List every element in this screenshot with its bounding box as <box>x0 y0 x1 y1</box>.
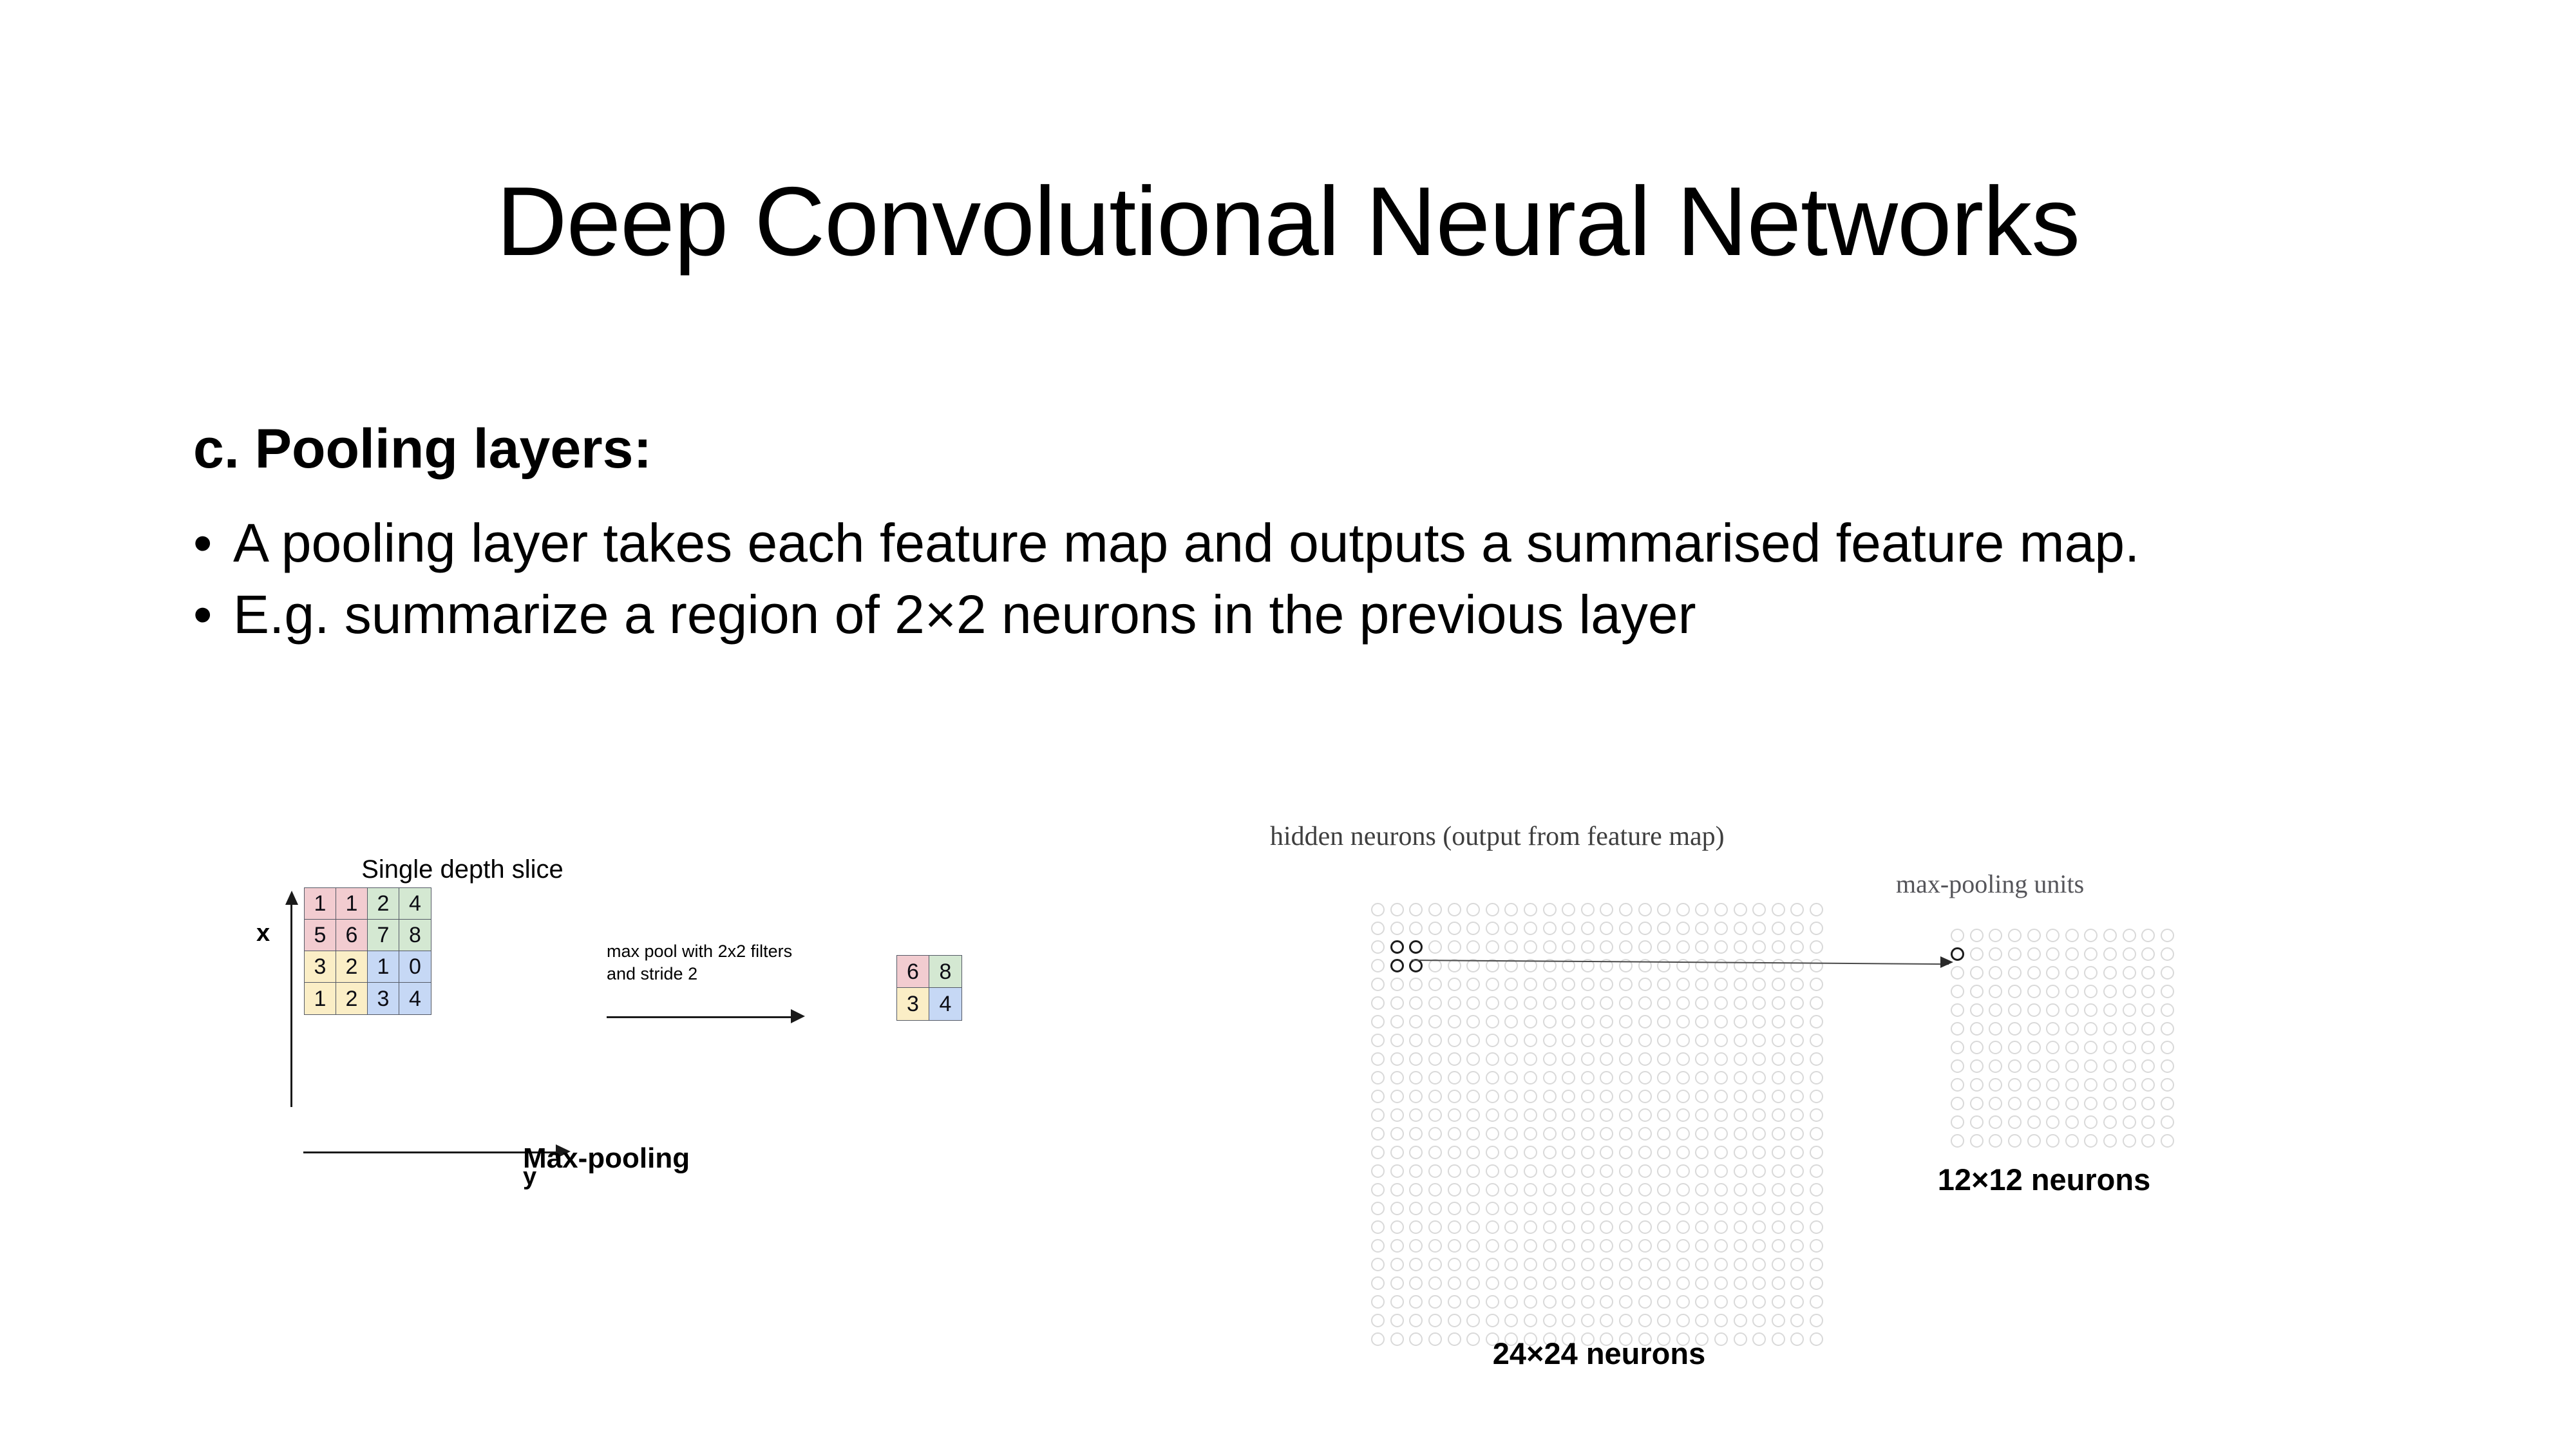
neuron <box>1810 1034 1823 1047</box>
neuron <box>1790 959 1804 972</box>
input-cell: 8 <box>399 920 431 951</box>
neuron <box>1951 966 1964 980</box>
neuron <box>1989 966 2002 980</box>
neuron <box>1638 1295 1652 1309</box>
neuron <box>1657 1239 1671 1253</box>
neuron <box>1409 1090 1423 1103</box>
neuron <box>1752 1239 1766 1253</box>
neuron <box>1951 1115 1964 1129</box>
neuron <box>1581 1052 1595 1066</box>
neuron <box>1524 1034 1537 1047</box>
neuron <box>1970 985 1984 998</box>
neuron <box>1657 1052 1671 1066</box>
y-axis-line <box>303 1151 558 1153</box>
neuron <box>1695 903 1709 916</box>
neuron <box>2161 929 2174 942</box>
neuron <box>1524 1239 1537 1253</box>
neuron <box>1581 1071 1595 1084</box>
neuron <box>1581 1034 1595 1047</box>
neuron <box>1448 1220 1461 1234</box>
neuron <box>1409 922 1423 935</box>
neuron <box>1810 1090 1823 1103</box>
neuron <box>1676 996 1690 1010</box>
neuron <box>1600 1295 1613 1309</box>
neuron <box>1970 966 1984 980</box>
neuron <box>1428 1276 1442 1290</box>
neuron <box>1543 1202 1557 1215</box>
neuron <box>1486 1220 1499 1234</box>
input-cell: 1 <box>368 951 399 983</box>
neuron <box>1390 1108 1404 1122</box>
neuron <box>1714 1202 1728 1215</box>
neuron <box>2008 966 2022 980</box>
neuron <box>1562 1258 1575 1271</box>
neuron <box>1581 903 1595 916</box>
neuron <box>1989 1078 2002 1092</box>
input-feature-map-grid: 1124567832101234 <box>304 887 431 1015</box>
neuron <box>1524 1164 1537 1178</box>
neuron <box>2103 985 2117 998</box>
neuron <box>2046 1022 2060 1036</box>
neuron <box>1714 903 1728 916</box>
neuron <box>1810 1276 1823 1290</box>
neuron <box>1466 1202 1480 1215</box>
neuron <box>1409 1258 1423 1271</box>
neuron <box>1524 1090 1537 1103</box>
neuron <box>1371 1090 1385 1103</box>
neuron <box>2008 1097 2022 1110</box>
neuron <box>1562 922 1575 935</box>
output-cell: 3 <box>897 988 929 1020</box>
neuron <box>2103 929 2117 942</box>
neuron <box>1970 1134 1984 1148</box>
neuron <box>2084 947 2098 961</box>
neuron <box>2027 1041 2041 1054</box>
neuron <box>1428 940 1442 954</box>
neuron <box>1504 1164 1518 1178</box>
neuron <box>1543 1015 1557 1028</box>
neuron <box>1428 1034 1442 1047</box>
page-title: Deep Convolutional Neural Networks <box>0 173 2576 270</box>
neuron <box>1466 1015 1480 1028</box>
neuron <box>1486 1202 1499 1215</box>
neuron <box>1752 978 1766 991</box>
neuron <box>2161 966 2174 980</box>
neuron <box>1657 940 1671 954</box>
neuron <box>1734 1071 1747 1084</box>
neuron <box>1695 1239 1709 1253</box>
neuron <box>1428 1146 1442 1159</box>
neuron <box>1466 1108 1480 1122</box>
neuron <box>1486 1034 1499 1047</box>
neuron <box>1734 1239 1747 1253</box>
neuron <box>1371 1202 1385 1215</box>
neuron <box>1790 1295 1804 1309</box>
neuron <box>1600 940 1613 954</box>
neuron <box>1466 1258 1480 1271</box>
neuron <box>1390 1258 1404 1271</box>
neuron <box>1695 959 1709 972</box>
neuron <box>1504 996 1518 1010</box>
neuron <box>1600 903 1613 916</box>
single-depth-slice-label: Single depth slice <box>327 857 598 882</box>
neuron <box>1676 1090 1690 1103</box>
hidden-neurons-label: hidden neurons (output from feature map) <box>1270 823 1725 850</box>
neuron <box>1772 1015 1785 1028</box>
neuron <box>2027 1097 2041 1110</box>
neuron <box>1486 922 1499 935</box>
neuron <box>1600 1276 1613 1290</box>
neuron <box>1409 1015 1423 1028</box>
neuron-highlighted <box>1951 947 1964 961</box>
neuron <box>1676 1183 1690 1197</box>
input-cell: 7 <box>368 920 399 951</box>
neuron <box>2084 1134 2098 1148</box>
neuron <box>1695 978 1709 991</box>
neuron <box>2046 1078 2060 1092</box>
neuron <box>1562 1127 1575 1141</box>
neuron <box>1638 903 1652 916</box>
neuron <box>1714 1034 1728 1047</box>
neuron <box>1448 1164 1461 1178</box>
neuron <box>2123 1041 2136 1054</box>
neuron <box>2103 1022 2117 1036</box>
neuron <box>2027 1115 2041 1129</box>
neuron <box>1951 1097 1964 1110</box>
neuron <box>1772 1034 1785 1047</box>
neuron <box>1600 1127 1613 1141</box>
neuron <box>1371 940 1385 954</box>
neuron <box>1581 996 1595 1010</box>
neuron <box>1676 1314 1690 1327</box>
neuron <box>1772 959 1785 972</box>
neuron <box>1524 1071 1537 1084</box>
neuron <box>2141 1078 2155 1092</box>
neuron <box>2046 947 2060 961</box>
bullet-text: A pooling layer takes each feature map a… <box>233 510 2338 576</box>
neuron <box>1486 1071 1499 1084</box>
neuron <box>1810 922 1823 935</box>
neuron <box>1428 1127 1442 1141</box>
neuron <box>1371 1071 1385 1084</box>
neuron <box>1810 1220 1823 1234</box>
neuron <box>1676 1127 1690 1141</box>
neuron <box>1810 1202 1823 1215</box>
neuron <box>1428 1164 1442 1178</box>
neuron <box>1752 1220 1766 1234</box>
neuron <box>1409 1220 1423 1234</box>
neuron <box>1390 1090 1404 1103</box>
neuron <box>1619 1183 1633 1197</box>
neuron <box>1466 1239 1480 1253</box>
neuron <box>2123 947 2136 961</box>
neuron <box>1790 1239 1804 1253</box>
neuron <box>1504 1127 1518 1141</box>
neuron <box>1638 1164 1652 1178</box>
neuron <box>1524 996 1537 1010</box>
neuron <box>2161 1003 2174 1017</box>
neuron <box>1448 1146 1461 1159</box>
neuron <box>1752 922 1766 935</box>
neuron <box>1466 1071 1480 1084</box>
neuron <box>1409 1314 1423 1327</box>
neuron <box>1790 1276 1804 1290</box>
neuron <box>1676 1015 1690 1028</box>
neuron <box>1638 1071 1652 1084</box>
neuron <box>1790 1034 1804 1047</box>
neuron <box>1543 1034 1557 1047</box>
neuron <box>1638 1220 1652 1234</box>
neuron <box>1752 1183 1766 1197</box>
neuron <box>2065 947 2079 961</box>
neuron <box>1371 1015 1385 1028</box>
neuron <box>1752 1146 1766 1159</box>
neuron <box>2065 1078 2079 1092</box>
neuron <box>2161 1059 2174 1073</box>
neuron <box>1448 1090 1461 1103</box>
neuron <box>1600 1202 1613 1215</box>
neuron <box>1752 1276 1766 1290</box>
neuron <box>1734 1034 1747 1047</box>
neuron <box>1638 978 1652 991</box>
neuron <box>1752 1071 1766 1084</box>
neuron <box>1619 1146 1633 1159</box>
neuron <box>1657 996 1671 1010</box>
neuron <box>1390 903 1404 916</box>
neuron <box>1970 1115 1984 1129</box>
neuron <box>1543 1220 1557 1234</box>
neuron <box>1810 1183 1823 1197</box>
neuron <box>1676 1071 1690 1084</box>
neuron <box>1714 1220 1728 1234</box>
neuron <box>1714 1015 1728 1028</box>
neuron <box>1409 1239 1423 1253</box>
neuron <box>2123 1097 2136 1110</box>
neuron <box>1581 1258 1595 1271</box>
neuron <box>1714 1108 1728 1122</box>
neuron <box>1752 1202 1766 1215</box>
neuron <box>1486 1164 1499 1178</box>
neuron <box>2141 1003 2155 1017</box>
neuron <box>1810 1146 1823 1159</box>
neuron <box>2008 1115 2022 1129</box>
neuron <box>1581 1146 1595 1159</box>
neuron <box>2084 1097 2098 1110</box>
input-cell: 1 <box>305 888 336 920</box>
neuron <box>1581 940 1595 954</box>
neuron <box>2123 929 2136 942</box>
neuron <box>2161 1022 2174 1036</box>
neuron <box>1714 922 1728 935</box>
neuron <box>1619 978 1633 991</box>
neuron <box>1810 1295 1823 1309</box>
neuron <box>1390 1295 1404 1309</box>
neuron <box>1790 1332 1804 1346</box>
neuron <box>1810 903 1823 916</box>
neuron <box>1657 978 1671 991</box>
neuron <box>1989 1097 2002 1110</box>
neuron <box>1810 1258 1823 1271</box>
neuron <box>1371 1314 1385 1327</box>
neuron <box>1524 922 1537 935</box>
neuron <box>1695 1127 1709 1141</box>
neuron <box>1638 1015 1652 1028</box>
neuron <box>1486 940 1499 954</box>
neuron <box>1734 978 1747 991</box>
neuron <box>1989 929 2002 942</box>
neuron <box>1562 1295 1575 1309</box>
neuron <box>1772 1090 1785 1103</box>
x-axis-line <box>290 898 292 1107</box>
neuron <box>2123 1115 2136 1129</box>
neuron <box>1989 1041 2002 1054</box>
neuron <box>1734 1108 1747 1122</box>
neuron <box>1676 1052 1690 1066</box>
neuron <box>1714 1276 1728 1290</box>
neuron <box>1390 1127 1404 1141</box>
neuron <box>2046 1003 2060 1017</box>
neuron <box>1486 1146 1499 1159</box>
neuron <box>1524 1202 1537 1215</box>
neuron <box>1428 996 1442 1010</box>
neuron <box>1695 1071 1709 1084</box>
neuron <box>2123 1134 2136 1148</box>
neuron <box>1466 922 1480 935</box>
neuron <box>1810 940 1823 954</box>
neuron <box>1714 1071 1728 1084</box>
neuron <box>1676 903 1690 916</box>
neuron <box>2161 1115 2174 1129</box>
neuron <box>1638 1127 1652 1141</box>
neuron <box>1772 1276 1785 1290</box>
neuron <box>1409 1164 1423 1178</box>
neuron <box>1486 1239 1499 1253</box>
neuron <box>1504 1183 1518 1197</box>
neuron <box>1657 1164 1671 1178</box>
neuron <box>1543 1127 1557 1141</box>
neuron <box>2141 966 2155 980</box>
neuron <box>1581 1015 1595 1028</box>
neuron <box>1428 978 1442 991</box>
neuron <box>2084 1115 2098 1129</box>
neuron <box>2008 1022 2022 1036</box>
neuron <box>2065 1115 2079 1129</box>
neuron <box>1371 1127 1385 1141</box>
neuron <box>1581 1164 1595 1178</box>
neuron <box>1448 978 1461 991</box>
neuron <box>2084 1041 2098 1054</box>
output-cell: 6 <box>897 956 929 988</box>
neuron <box>1390 922 1404 935</box>
neuron <box>1752 1015 1766 1028</box>
neuron <box>2084 1059 2098 1073</box>
neuron <box>1657 1314 1671 1327</box>
neuron <box>1752 1108 1766 1122</box>
neuron <box>1466 1146 1480 1159</box>
input-cell: 1 <box>305 983 336 1014</box>
neuron <box>1714 1127 1728 1141</box>
neuron <box>1600 1220 1613 1234</box>
neuron <box>1428 922 1442 935</box>
neuron <box>1970 1078 1984 1092</box>
neuron <box>1524 1276 1537 1290</box>
neuron-pooling-figure: hidden neurons (output from feature map)… <box>1243 823 2273 1390</box>
neuron <box>1657 1034 1671 1047</box>
neuron <box>1524 1015 1537 1028</box>
neuron <box>1562 978 1575 991</box>
neuron <box>2046 1041 2060 1054</box>
neuron <box>1772 1108 1785 1122</box>
neuron <box>1676 1146 1690 1159</box>
neuron <box>1390 1146 1404 1159</box>
neuron <box>2123 985 2136 998</box>
bullet-marker: • <box>193 510 233 576</box>
neuron <box>1676 1258 1690 1271</box>
neuron <box>1734 922 1747 935</box>
neuron <box>1390 1332 1404 1346</box>
neuron <box>1428 1220 1442 1234</box>
neuron <box>1619 1071 1633 1084</box>
neuron <box>1657 1295 1671 1309</box>
neuron <box>1486 1258 1499 1271</box>
neuron <box>1619 940 1633 954</box>
neuron <box>1486 1295 1499 1309</box>
neuron <box>1524 903 1537 916</box>
neuron <box>1504 1071 1518 1084</box>
neuron <box>1772 1071 1785 1084</box>
neuron <box>1562 1314 1575 1327</box>
neuron <box>1504 1258 1518 1271</box>
neuron <box>1409 1276 1423 1290</box>
neuron <box>1989 1115 2002 1129</box>
neuron <box>1504 1276 1518 1290</box>
neuron <box>1772 1183 1785 1197</box>
neuron <box>1600 1146 1613 1159</box>
neuron <box>1466 1183 1480 1197</box>
neuron <box>1390 1183 1404 1197</box>
neuron <box>1772 1258 1785 1271</box>
neuron <box>1448 996 1461 1010</box>
neuron <box>1734 1146 1747 1159</box>
neuron <box>2065 985 2079 998</box>
neuron <box>2027 929 2041 942</box>
neuron <box>1790 940 1804 954</box>
neuron <box>1951 1059 1964 1073</box>
neuron <box>1562 1276 1575 1290</box>
neuron <box>1619 1314 1633 1327</box>
neuron <box>1448 1314 1461 1327</box>
x-axis-arrowhead-icon <box>285 891 298 905</box>
hidden-neuron-grid-24x24 <box>1368 900 1826 1349</box>
neuron <box>1714 1314 1728 1327</box>
neuron <box>1524 1220 1537 1234</box>
neuron <box>1695 1183 1709 1197</box>
neuron <box>1619 1295 1633 1309</box>
neuron <box>2008 929 2022 942</box>
neuron <box>1371 978 1385 991</box>
neuron <box>1989 985 2002 998</box>
neuron <box>2141 947 2155 961</box>
slide-body: c. Pooling layers: • A pooling layer tak… <box>193 417 2338 652</box>
neuron <box>1409 1034 1423 1047</box>
neuron <box>2084 1022 2098 1036</box>
neuron <box>1695 1295 1709 1309</box>
neuron <box>1466 1220 1480 1234</box>
neuron <box>1951 1078 1964 1092</box>
neuron <box>1371 1276 1385 1290</box>
neuron <box>1714 1295 1728 1309</box>
neuron <box>1504 922 1518 935</box>
